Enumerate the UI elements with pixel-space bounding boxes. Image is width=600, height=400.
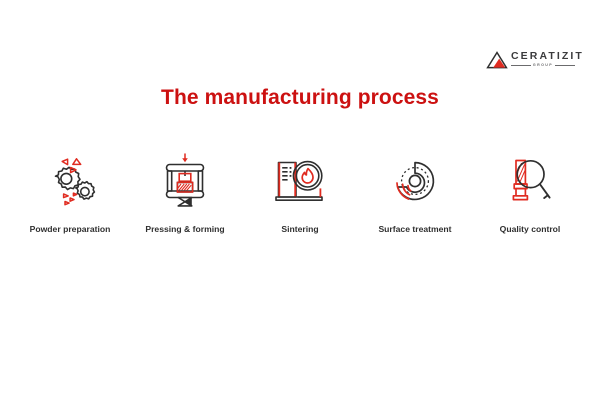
- press-machine-icon: [154, 150, 216, 212]
- triangle-logo-icon: [486, 51, 508, 69]
- page-title: The manufacturing process: [0, 85, 600, 111]
- gears-powder-icon: [39, 150, 101, 212]
- process-step-label: Surface treatment: [378, 224, 451, 235]
- process-step-quality-control[interactable]: Quality control: [474, 150, 586, 235]
- ceratizit-group-logo: CERATIZIT GROUP: [486, 50, 578, 78]
- process-step-powder-preparation[interactable]: Powder preparation: [14, 150, 126, 235]
- logo-rule-right: [555, 65, 575, 66]
- coated-disc-icon: [384, 150, 446, 212]
- logo-rule-left: [511, 65, 531, 66]
- process-step-label: Powder preparation: [30, 224, 111, 235]
- logo-subtitle-row: GROUP: [511, 63, 575, 68]
- logo-wordmark: CERATIZIT: [511, 50, 584, 62]
- logo-subtitle: GROUP: [531, 63, 555, 68]
- process-step-label: Sintering: [281, 224, 318, 235]
- process-step-surface-treatment[interactable]: Surface treatment: [359, 150, 471, 235]
- process-step-sintering[interactable]: Sintering: [244, 150, 356, 235]
- process-step-pressing-forming[interactable]: Pressing & forming: [129, 150, 241, 235]
- furnace-flame-icon: [269, 150, 331, 212]
- process-steps-row: Powder preparation: [14, 150, 586, 235]
- process-step-label: Pressing & forming: [145, 224, 224, 235]
- magnifier-part-icon: [499, 150, 561, 212]
- process-step-label: Quality control: [500, 224, 561, 235]
